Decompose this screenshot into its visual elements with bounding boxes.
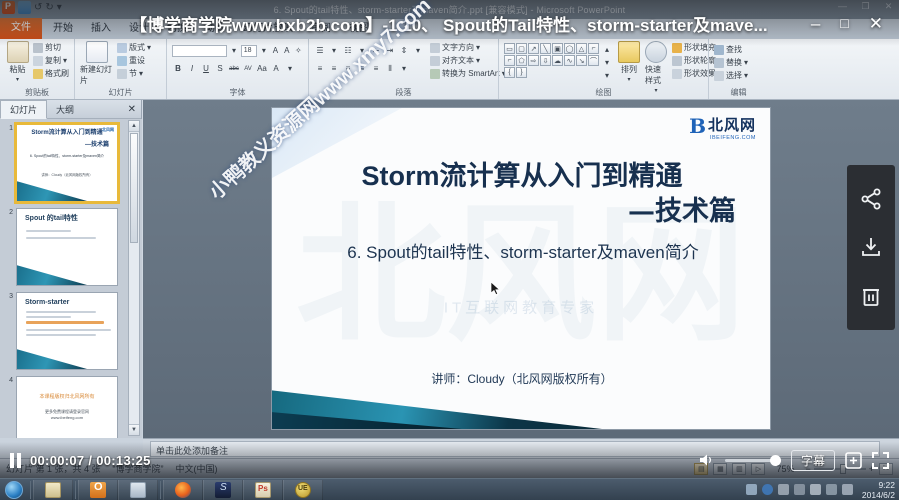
bullets-dropdown-icon[interactable]: ▾ bbox=[328, 45, 340, 57]
tray-icon-5[interactable] bbox=[810, 484, 821, 495]
change-case-button[interactable]: Aa bbox=[256, 63, 268, 75]
pause-button[interactable] bbox=[10, 453, 24, 468]
taskbar-app-explorer[interactable] bbox=[118, 480, 158, 500]
reset-icon bbox=[117, 56, 127, 66]
expand-icon[interactable] bbox=[845, 452, 862, 469]
player-minimize-button[interactable]: – bbox=[811, 15, 820, 32]
reset-label: 重设 bbox=[129, 55, 145, 66]
slide-number: 2 bbox=[5, 208, 13, 286]
character-spacing-button[interactable]: AV bbox=[242, 63, 254, 75]
taskbar-app-editor[interactable] bbox=[203, 480, 243, 500]
font-name-input[interactable] bbox=[172, 45, 227, 57]
shape-outline-icon bbox=[672, 56, 682, 66]
new-slide-label: 新建幻灯片 bbox=[80, 64, 114, 86]
slides-group-title: 幻灯片 bbox=[75, 87, 166, 98]
start-button[interactable] bbox=[0, 480, 28, 500]
align-text-dropdown-icon[interactable]: ▾ bbox=[476, 55, 480, 66]
bullets-button[interactable]: ☰ bbox=[314, 45, 326, 57]
shape-arc-icon[interactable]: ⌒ bbox=[588, 55, 599, 66]
grow-font-button[interactable]: A bbox=[271, 45, 280, 57]
decrease-indent-button[interactable]: ⇤ bbox=[370, 45, 382, 57]
volume-slider[interactable] bbox=[725, 459, 781, 462]
thumbnail-list[interactable]: 1 北风网 Storm流计算从入门到精通 —技术篇 6. Spout的tail特… bbox=[0, 119, 142, 438]
align-center-button[interactable]: ≡ bbox=[328, 63, 340, 75]
tray-icon-2[interactable] bbox=[762, 484, 773, 495]
search-icon bbox=[714, 45, 724, 55]
taskbar-app-notepad[interactable] bbox=[33, 480, 73, 500]
thumb-title: Storm流计算从入门到精通 bbox=[21, 130, 113, 137]
download-icon[interactable] bbox=[859, 235, 883, 259]
select-label: 选择 bbox=[726, 70, 742, 81]
slide-number: 3 bbox=[5, 292, 13, 370]
columns-dropdown-icon[interactable]: ▾ bbox=[398, 63, 410, 75]
thumb-text-line bbox=[26, 329, 111, 331]
total-time: 00:13:25 bbox=[96, 453, 150, 468]
align-text-button[interactable]: 对齐文本 ▾ bbox=[430, 55, 506, 66]
slide-number: 1 bbox=[5, 124, 13, 202]
volume-icon[interactable] bbox=[699, 453, 715, 467]
convert-smartart-label: 转换为 SmartArt bbox=[442, 68, 500, 79]
numbering-dropdown-icon[interactable]: ▾ bbox=[356, 45, 368, 57]
taskbar-app-photoshop[interactable] bbox=[243, 480, 283, 500]
font-size-dropdown-icon[interactable]: ▾ bbox=[259, 45, 268, 57]
smartart-icon bbox=[430, 69, 440, 79]
thumb-title: 本课程版权归北风网所有 bbox=[17, 393, 117, 400]
thumbnail-scrollbar[interactable]: ▲ ▼ bbox=[128, 120, 140, 436]
editor-icon bbox=[215, 482, 231, 498]
shape-effects-icon bbox=[672, 69, 682, 79]
copy-icon bbox=[33, 56, 43, 66]
delete-icon[interactable] bbox=[859, 284, 883, 308]
shapes-gallery[interactable]: ▭ ▢ ↗ ╲ ▣ ◯ △ ⌐ ⌐ ⬠ ⇨ ⇩ ☁ bbox=[504, 43, 599, 78]
taskbar-app-firefox[interactable] bbox=[163, 480, 203, 500]
close-panel-icon[interactable]: ✕ bbox=[128, 104, 141, 115]
ribbon-group-drawing: ▭ ▢ ↗ ╲ ▣ ◯ △ ⌐ ⌐ ⬠ ⇨ ⇩ ☁ bbox=[498, 39, 708, 99]
replace-button[interactable]: 替换 ▾ bbox=[714, 57, 748, 68]
select-dropdown-icon[interactable]: ▾ bbox=[744, 70, 748, 81]
scroll-up-icon[interactable]: ▲ bbox=[129, 121, 139, 132]
fullscreen-icon[interactable] bbox=[872, 452, 889, 469]
taskbar-divider bbox=[160, 481, 161, 499]
shape-curve-icon[interactable]: ∿ bbox=[564, 55, 575, 66]
thumb-corner-shape bbox=[17, 181, 87, 201]
windows-logo-icon bbox=[5, 481, 23, 499]
section-dropdown-icon[interactable]: ▾ bbox=[139, 68, 143, 79]
align-text-label: 对齐文本 bbox=[442, 55, 474, 66]
copy-label: 复制 bbox=[45, 55, 61, 66]
paste-button[interactable]: 粘贴 ▾ bbox=[5, 41, 30, 88]
slide-thumbnail-panel: 幻灯片 大纲 ✕ 1 北风网 Storm流计算从入门到精通 —技术篇 6. Sp… bbox=[0, 100, 142, 438]
ribbon-group-editing: 查找 替换 ▾ 选择 ▾ 编辑 bbox=[708, 39, 768, 99]
replace-icon bbox=[714, 58, 724, 68]
italic-button[interactable]: I bbox=[186, 63, 198, 75]
shape-brace-r-icon[interactable]: } bbox=[516, 67, 527, 78]
thumb-logo: 北风网 bbox=[102, 127, 114, 133]
increase-indent-button[interactable]: ⇥ bbox=[384, 45, 396, 57]
slide-number: 4 bbox=[5, 376, 13, 438]
tray-icon-4[interactable] bbox=[794, 484, 805, 495]
copy-dropdown-icon[interactable]: ▾ bbox=[63, 55, 67, 66]
slide-subtitle[interactable]: 6. Spout的tail特性、storm-starter及maven简介 bbox=[290, 242, 756, 264]
shape-pentagon-icon[interactable]: ⬠ bbox=[516, 55, 527, 66]
ribbon-group-paragraph: ☰ ▾ ☷ ▾ ⇤ ⇥ ⇕ ▾ ≡ ≡ ≡ bbox=[308, 39, 498, 99]
section-icon bbox=[117, 69, 127, 79]
slide-thumbnail-3[interactable]: Storm-starter bbox=[16, 292, 118, 370]
bold-button[interactable]: B bbox=[172, 63, 184, 75]
slide-title-en: Storm bbox=[361, 161, 439, 191]
player-window-buttons[interactable]: – □ ✕ bbox=[811, 15, 891, 32]
tray-icon-3[interactable] bbox=[778, 484, 789, 495]
logo-text: 北风网 bbox=[708, 117, 756, 134]
slide-title-line2[interactable]: —技术篇 bbox=[296, 196, 748, 228]
thumb-text-line bbox=[26, 334, 96, 336]
volume-knob[interactable] bbox=[770, 455, 781, 466]
subtitle-button[interactable]: 字幕 bbox=[791, 450, 835, 471]
player-time-display: 00:00:07 / 00:13:25 bbox=[30, 453, 151, 468]
thumb-title: Spout 的tail特性 bbox=[25, 215, 113, 222]
taskbar-divider bbox=[30, 481, 31, 499]
select-icon bbox=[714, 71, 724, 81]
taskbar-clock[interactable]: 9:22 2014/6/2 bbox=[858, 480, 895, 500]
underline-button[interactable]: U bbox=[200, 63, 212, 75]
columns-button[interactable]: ⫴ bbox=[384, 63, 396, 75]
arrange-label: 排列 bbox=[621, 64, 637, 75]
clock-time: 9:22 bbox=[862, 480, 895, 490]
player-maximize-button[interactable]: □ bbox=[840, 15, 848, 32]
shapes-more-icon[interactable]: ▾ bbox=[601, 69, 613, 81]
list-item[interactable]: 2 Spout 的tail特性 bbox=[5, 208, 126, 286]
replace-label: 替换 bbox=[726, 57, 742, 68]
slide-watermark-small: IT互联网教育专家 bbox=[444, 297, 598, 318]
justify-button[interactable]: ≡ bbox=[356, 63, 368, 75]
numbering-button[interactable]: ☷ bbox=[342, 45, 354, 57]
list-item[interactable]: 4 本课程版权归北风网所有 更多免费课程请登录官网 www.ibeifeng.c… bbox=[5, 376, 126, 438]
photoshop-icon bbox=[255, 482, 271, 498]
tab-outline[interactable]: 大纲 bbox=[47, 101, 83, 118]
taskbar-app-outlook[interactable] bbox=[78, 480, 118, 500]
slide-title[interactable]: Storm流计算从入门到精通 bbox=[296, 160, 748, 193]
tray-icon-1[interactable] bbox=[746, 484, 757, 495]
ribbon-group-slides: 新建幻灯片 版式 ▾ 重设 bbox=[74, 39, 166, 99]
font-name-dropdown-icon[interactable]: ▾ bbox=[229, 45, 238, 57]
paste-dropdown-icon[interactable]: ▾ bbox=[16, 76, 19, 83]
shapes-scroll-down-icon[interactable]: ▾ bbox=[601, 56, 613, 68]
align-text-icon bbox=[430, 56, 440, 66]
tray-network-icon[interactable] bbox=[826, 484, 837, 495]
outlook-icon bbox=[90, 482, 106, 498]
copy-button[interactable]: 复制 ▾ bbox=[33, 55, 69, 66]
thumb-subtitle: 6. Spout的tail特性、storm-starter及maven简介 bbox=[21, 153, 113, 159]
scrollbar-thumb[interactable] bbox=[130, 133, 138, 243]
thumb-corner-shape bbox=[17, 349, 87, 369]
arrange-dropdown-icon[interactable]: ▾ bbox=[627, 76, 630, 83]
distribute-button[interactable]: ≡ bbox=[370, 63, 382, 75]
shape-brace-l-icon[interactable]: { bbox=[504, 67, 515, 78]
logo-url: IBEIFENG.COM bbox=[708, 135, 756, 141]
line-spacing-button[interactable]: ⇕ bbox=[398, 45, 410, 57]
notepad-icon bbox=[45, 482, 61, 498]
shape-bracket2-icon[interactable]: ⌐ bbox=[504, 55, 515, 66]
player-side-toolbar[interactable] bbox=[847, 165, 895, 330]
quick-styles-label: 快速样式 bbox=[645, 64, 667, 86]
slide-thumbnail-2[interactable]: Spout 的tail特性 bbox=[16, 208, 118, 286]
thumb-text-line bbox=[26, 230, 71, 232]
taskbar-divider bbox=[75, 481, 76, 499]
folder-icon bbox=[130, 482, 146, 498]
convert-smartart-button[interactable]: 转换为 SmartArt ▾ bbox=[430, 68, 506, 79]
current-slide[interactable]: 北风网 IT互联网教育专家 B 北风网 IBEIFENG.COM Storm流计… bbox=[271, 107, 771, 430]
player-right-controls[interactable]: 字幕 bbox=[699, 450, 889, 471]
player-title-text: 【博学商学院www.bxb2b.com】-1.10、 Spout的Tail特性、… bbox=[130, 11, 768, 36]
font-color-button[interactable]: A bbox=[270, 63, 282, 75]
section-label: 节 bbox=[129, 68, 137, 79]
thumb-footer: 讲师：Cloudy（北风网版权所有） bbox=[17, 172, 117, 178]
slide-panel-tabs[interactable]: 幻灯片 大纲 ✕ bbox=[0, 100, 141, 119]
share-icon[interactable] bbox=[859, 187, 883, 211]
strikethrough-button[interactable]: abc bbox=[228, 63, 240, 75]
brush-icon bbox=[33, 69, 43, 79]
windows-taskbar[interactable]: 9:22 2014/6/2 bbox=[0, 478, 899, 500]
font-size-input[interactable]: 18 bbox=[241, 45, 257, 57]
ultraedit-icon bbox=[295, 482, 311, 498]
slide-edit-area[interactable]: 北风网 IT互联网教育专家 B 北风网 IBEIFENG.COM Storm流计… bbox=[143, 100, 899, 438]
system-tray[interactable]: 9:22 2014/6/2 bbox=[746, 480, 899, 500]
slide-thumbnail-1[interactable]: 北风网 Storm流计算从入门到精通 —技术篇 6. Spout的tail特性、… bbox=[16, 124, 118, 202]
paste-label: 粘贴 bbox=[10, 64, 26, 75]
mouse-cursor-icon bbox=[491, 282, 500, 295]
thumb-title: Storm-starter bbox=[25, 299, 113, 306]
shape-cloud-icon[interactable]: ☁ bbox=[552, 55, 563, 66]
new-slide-button[interactable]: 新建幻灯片 bbox=[80, 41, 114, 88]
line-spacing-dropdown-icon[interactable]: ▾ bbox=[412, 45, 424, 57]
select-button[interactable]: 选择 ▾ bbox=[714, 70, 748, 81]
shape-freeform-icon[interactable]: ↘ bbox=[576, 55, 587, 66]
ribbon-body: 粘贴 ▾ 剪切 复制 ▾ bbox=[0, 39, 899, 100]
taskbar-app-ultraedit[interactable] bbox=[283, 480, 323, 500]
replace-dropdown-icon[interactable]: ▾ bbox=[744, 57, 748, 68]
clock-date: 2014/6/2 bbox=[862, 490, 895, 500]
slide-presenter[interactable]: 讲师：Cloudy（北风网版权所有） bbox=[272, 370, 771, 387]
font-color-dropdown-icon[interactable]: ▾ bbox=[284, 63, 296, 75]
thumb-link-line bbox=[26, 321, 104, 324]
font-group-title: 字体 bbox=[167, 87, 308, 98]
player-close-button[interactable]: ✕ bbox=[869, 15, 883, 32]
list-item[interactable]: 1 北风网 Storm流计算从入门到精通 —技术篇 6. Spout的tail特… bbox=[5, 124, 126, 202]
thumb-text-line bbox=[26, 311, 96, 313]
clear-formatting-button[interactable]: ✧ bbox=[294, 45, 303, 57]
current-time: 00:00:07 bbox=[30, 453, 84, 468]
time-separator: / bbox=[88, 453, 92, 468]
list-item[interactable]: 3 Storm-starter bbox=[5, 292, 126, 370]
thumb-text-line bbox=[26, 237, 96, 239]
section-button[interactable]: 节 ▾ bbox=[117, 68, 151, 79]
slide-title-cn: 流计算从入门到精通 bbox=[440, 161, 683, 192]
thumb-subtitle: 更多免费课程请登录官网 www.ibeifeng.com bbox=[17, 409, 117, 421]
thumb-corner-shape bbox=[17, 265, 87, 285]
align-left-button[interactable]: ≡ bbox=[314, 63, 326, 75]
clipboard-group-title: 剪贴板 bbox=[0, 87, 74, 98]
format-painter-label: 格式刷 bbox=[45, 68, 69, 79]
firefox-icon bbox=[175, 482, 191, 498]
shape-arrow2-icon[interactable]: ⇨ bbox=[528, 55, 539, 66]
slide-thumbnail-4[interactable]: 本课程版权归北风网所有 更多免费课程请登录官网 www.ibeifeng.com bbox=[16, 376, 118, 438]
align-right-button[interactable]: ≡ bbox=[342, 63, 354, 75]
text-shadow-button[interactable]: S bbox=[214, 63, 226, 75]
scroll-down-icon[interactable]: ▼ bbox=[129, 424, 139, 435]
thumb-text-line bbox=[26, 316, 71, 318]
paragraph-group-title: 段落 bbox=[309, 87, 498, 98]
editing-group-title: 编辑 bbox=[709, 87, 768, 98]
reset-button[interactable]: 重设 bbox=[117, 55, 151, 66]
ribbon-group-clipboard: 粘贴 ▾ 剪切 复制 ▾ bbox=[0, 39, 74, 99]
shape-arrow3-icon[interactable]: ⇩ bbox=[540, 55, 551, 66]
powerpoint-window: ↺ ↻ ▾ 6. Spout的tail特性、storm-starter及mave… bbox=[0, 0, 899, 478]
logo-mark-icon: B bbox=[689, 117, 706, 135]
beifeng-logo: B 北风网 IBEIFENG.COM bbox=[689, 117, 756, 141]
ribbon-group-font: ▾ 18 ▾ A A ✧ B I U S abc AV Aa bbox=[166, 39, 308, 99]
drawing-group-title: 绘图 bbox=[499, 87, 708, 98]
tab-slides[interactable]: 幻灯片 bbox=[0, 100, 47, 119]
tray-volume-icon[interactable] bbox=[842, 484, 853, 495]
thumb-title2: —技术篇 bbox=[21, 142, 109, 149]
player-title-bar: 【博学商学院www.bxb2b.com】-1.10、 Spout的Tail特性、… bbox=[0, 0, 899, 46]
shrink-font-button[interactable]: A bbox=[282, 45, 291, 57]
player-control-bar[interactable]: 00:00:07 / 00:13:25 字幕 bbox=[0, 442, 899, 478]
format-painter-button[interactable]: 格式刷 bbox=[33, 68, 69, 79]
